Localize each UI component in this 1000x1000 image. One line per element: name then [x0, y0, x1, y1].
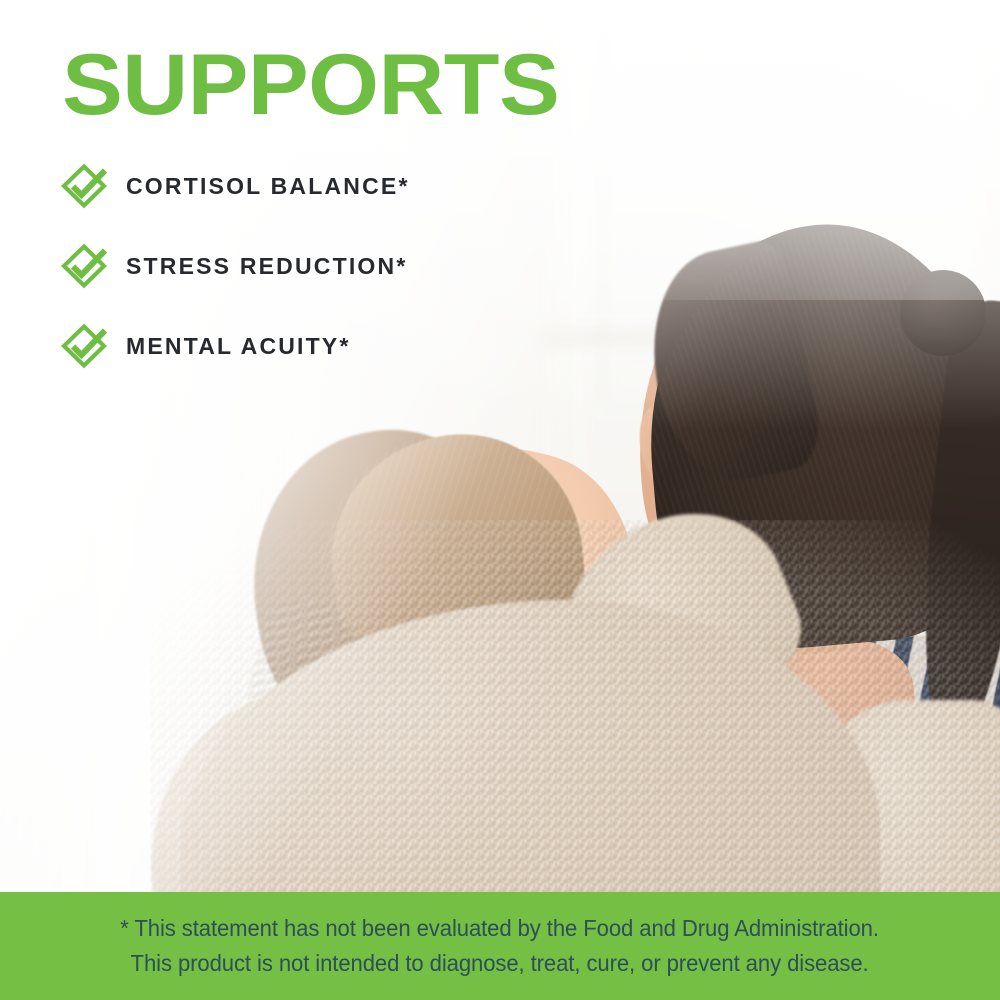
benefit-label: CORTISOL BALANCE*: [126, 173, 410, 200]
fda-disclaimer-banner: * This statement has not been evaluated …: [0, 892, 1000, 1000]
check-diamond-icon: [60, 323, 108, 369]
benefit-item-stress-reduction: STRESS REDUCTION*: [60, 243, 410, 289]
check-diamond-icon: [60, 163, 108, 209]
benefit-item-mental-acuity: MENTAL ACUITY*: [60, 323, 410, 369]
disclaimer-line-1: * This statement has not been evaluated …: [121, 913, 880, 944]
disclaimer-line-2: This product is not intended to diagnose…: [131, 948, 869, 979]
benefit-label: STRESS REDUCTION*: [126, 253, 407, 280]
content-layer: SUPPORTS CORTISOL BALANCE*: [0, 0, 1000, 1000]
product-benefit-poster: SUPPORTS CORTISOL BALANCE*: [0, 0, 1000, 1000]
check-diamond-icon: [60, 243, 108, 289]
benefit-list: CORTISOL BALANCE* STRESS REDUCTION*: [60, 163, 410, 369]
page-title: SUPPORTS: [62, 42, 559, 128]
benefit-item-cortisol-balance: CORTISOL BALANCE*: [60, 163, 410, 209]
benefit-label: MENTAL ACUITY*: [126, 333, 351, 360]
